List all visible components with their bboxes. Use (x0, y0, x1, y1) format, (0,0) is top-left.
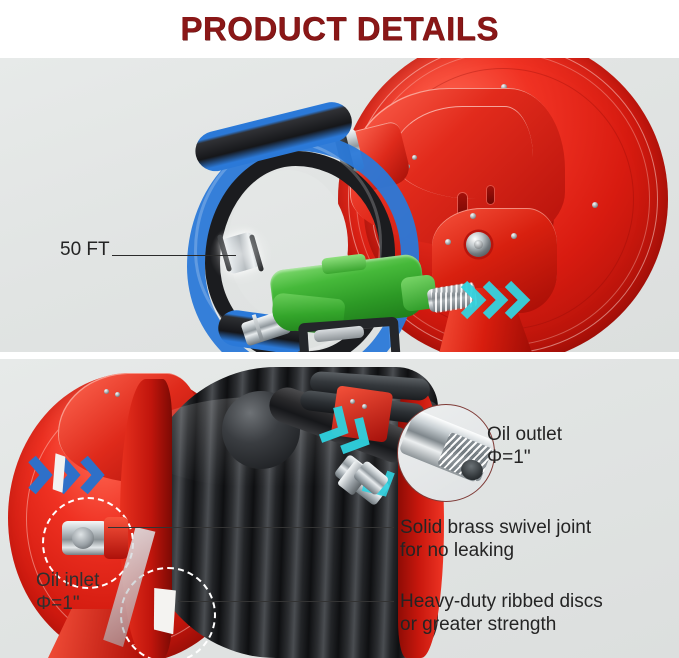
oil-inlet-fitting-bore (72, 527, 94, 549)
reel-arm-slot-2 (487, 186, 494, 204)
chevron-right-icon (460, 274, 570, 334)
rotation-arrow-blue-group (26, 451, 110, 499)
hub-bolt-2 (511, 233, 517, 239)
panel-hose-reel-detail: Oil outlet Φ=1" Solid brass swivel joint… (0, 359, 679, 658)
callout-ribbed-discs-label: Heavy-duty ribbed discs or greater stren… (400, 590, 603, 636)
oil-inlet-collar (104, 517, 128, 559)
callout-oil-inlet-label: Oil inlet Φ=1" (36, 569, 99, 615)
hose-band-glow (208, 224, 274, 284)
hub-bolt-1 (470, 213, 476, 219)
chevron-right-icon (26, 451, 110, 499)
product-details-page: PRODUCT DETAILS (0, 0, 679, 658)
oil-outlet-inset-zoom[interactable] (397, 404, 495, 502)
flow-arrow-cyan-group (460, 274, 570, 334)
reel-hub-bearing-core (474, 240, 483, 249)
panel-divider (0, 352, 679, 359)
reel-left-arm-screws (104, 389, 126, 403)
callout-ribbed-discs-leader (178, 601, 394, 602)
page-title: PRODUCT DETAILS (180, 10, 499, 48)
callout-swivel-joint-leader (108, 527, 394, 528)
hub-bolt-3 (445, 239, 451, 245)
callout-swivel-joint-label: Solid brass swivel joint for no leaking (400, 516, 591, 562)
callout-50ft-label: 50 FT (60, 238, 110, 261)
callout-oil-outlet-label: Oil outlet Φ=1" (487, 423, 562, 469)
panel-hose-reel-with-nozzle: 50 FT (0, 58, 679, 352)
page-title-bar: PRODUCT DETAILS (0, 0, 679, 58)
callout-50ft-leader (112, 255, 236, 256)
reel-disc-bolt-2 (592, 202, 598, 208)
